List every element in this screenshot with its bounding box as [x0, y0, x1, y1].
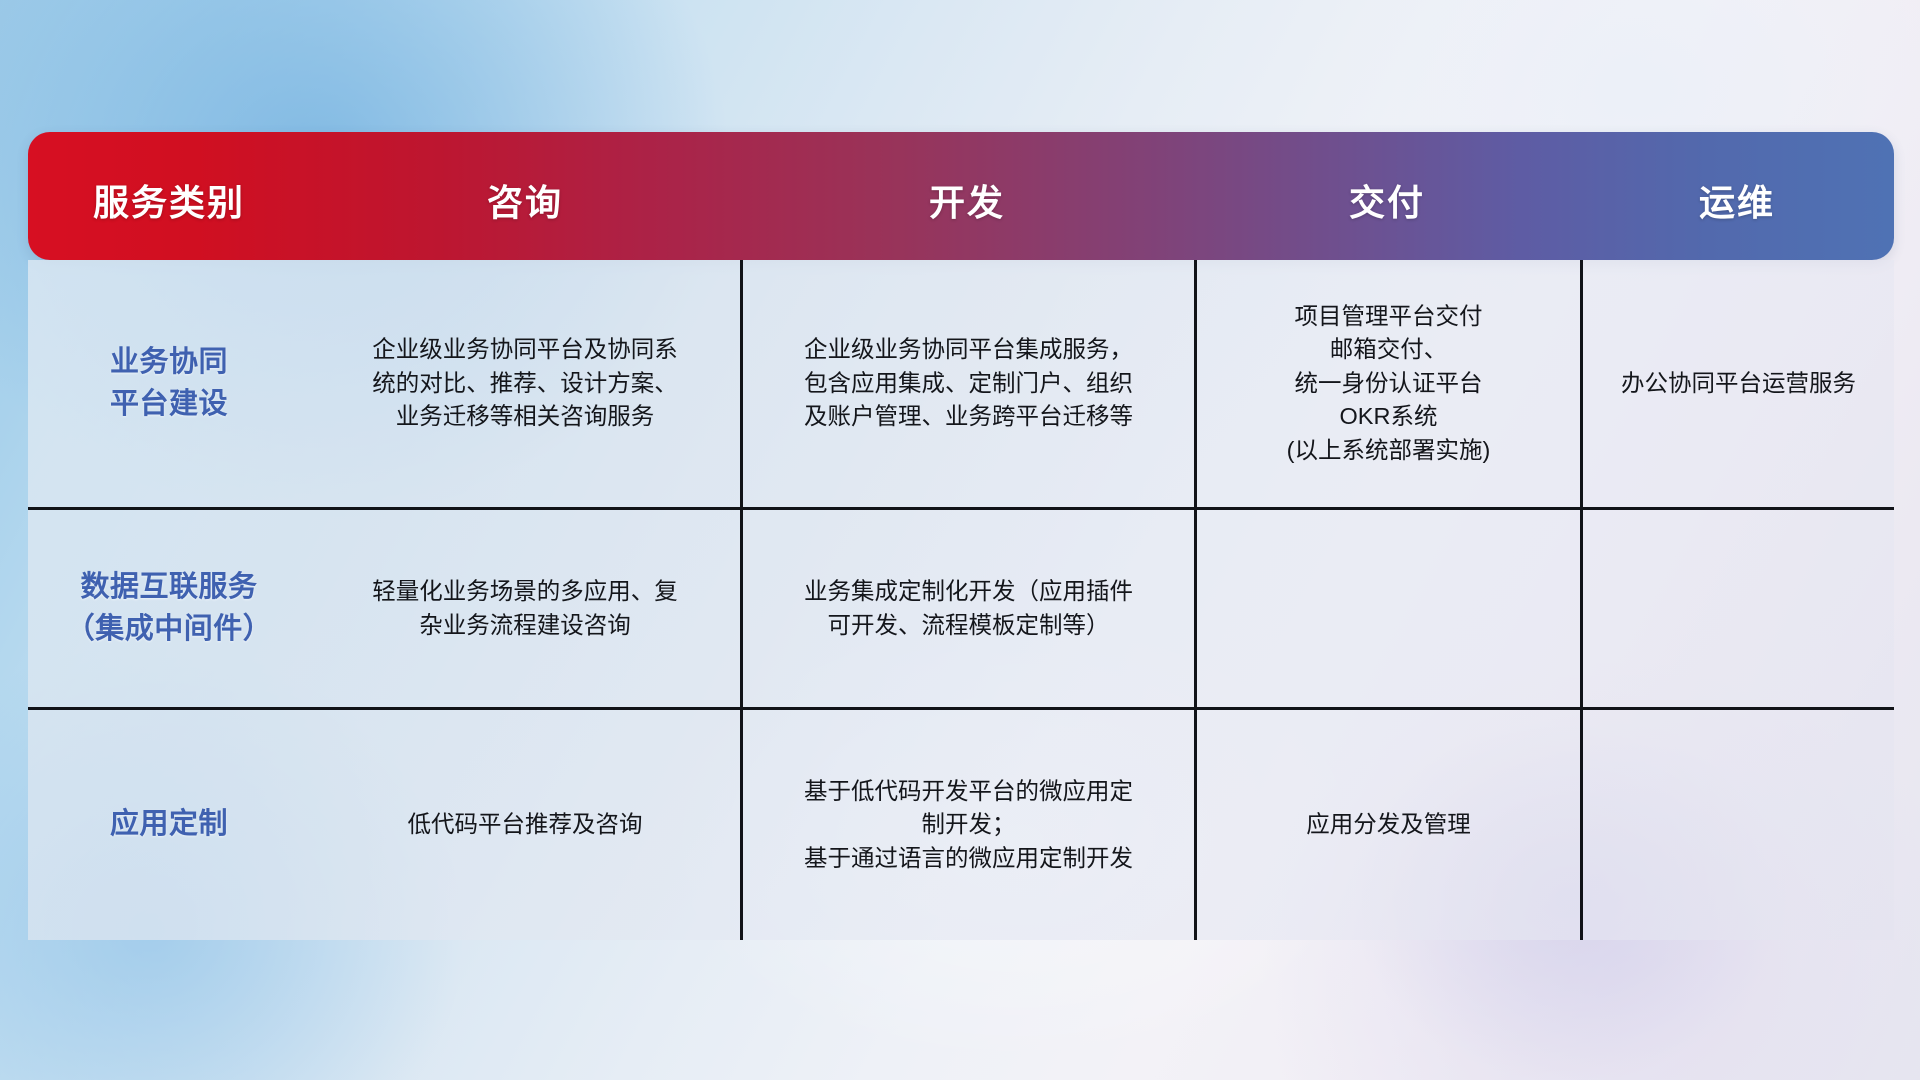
cell-delivery: 应用分发及管理 — [1194, 710, 1580, 940]
cell-delivery: 项目管理平台交付 邮箱交付、 统一身份认证平台 OKR系统 (以上系统部署实施) — [1194, 260, 1580, 507]
cell-development: 基于低代码开发平台的微应用定 制开发； 基于通过语言的微应用定制开发 — [740, 710, 1194, 940]
column-header-operations: 运维 — [1580, 132, 1894, 260]
table-body: 业务协同 平台建设 企业级业务协同平台及协同系 统的对比、推荐、设计方案、 业务… — [28, 260, 1894, 940]
column-header-category: 服务类别 — [28, 132, 310, 260]
row-category-label: 应用定制 — [28, 710, 310, 940]
table-row: 应用定制 低代码平台推荐及咨询 基于低代码开发平台的微应用定 制开发； 基于通过… — [28, 707, 1894, 940]
table-row: 业务协同 平台建设 企业级业务协同平台及协同系 统的对比、推荐、设计方案、 业务… — [28, 260, 1894, 507]
column-header-development: 开发 — [740, 132, 1194, 260]
cell-consulting: 低代码平台推荐及咨询 — [310, 710, 740, 940]
cell-operations: 办公协同平台运营服务 — [1580, 260, 1894, 507]
cell-delivery — [1194, 510, 1580, 707]
table-row: 数据互联服务 （集成中间件） 轻量化业务场景的多应用、复 杂业务流程建设咨询 业… — [28, 507, 1894, 707]
cell-development: 企业级业务协同平台集成服务， 包含应用集成、定制门户、组织 及账户管理、业务跨平… — [740, 260, 1194, 507]
cell-development: 业务集成定制化开发（应用插件 可开发、流程模板定制等） — [740, 510, 1194, 707]
row-category-label: 业务协同 平台建设 — [28, 260, 310, 507]
row-category-label: 数据互联服务 （集成中间件） — [28, 510, 310, 707]
cell-operations — [1580, 710, 1894, 940]
cell-consulting: 企业级业务协同平台及协同系 统的对比、推荐、设计方案、 业务迁移等相关咨询服务 — [310, 260, 740, 507]
column-header-consulting: 咨询 — [310, 132, 740, 260]
table-header-row: 服务类别 咨询 开发 交付 运维 — [28, 132, 1894, 260]
cell-operations — [1580, 510, 1894, 707]
cell-consulting: 轻量化业务场景的多应用、复 杂业务流程建设咨询 — [310, 510, 740, 707]
column-header-delivery: 交付 — [1194, 132, 1580, 260]
service-matrix-table: 服务类别 咨询 开发 交付 运维 业务协同 平台建设 企业级业务协同平台及协同系… — [28, 132, 1894, 940]
